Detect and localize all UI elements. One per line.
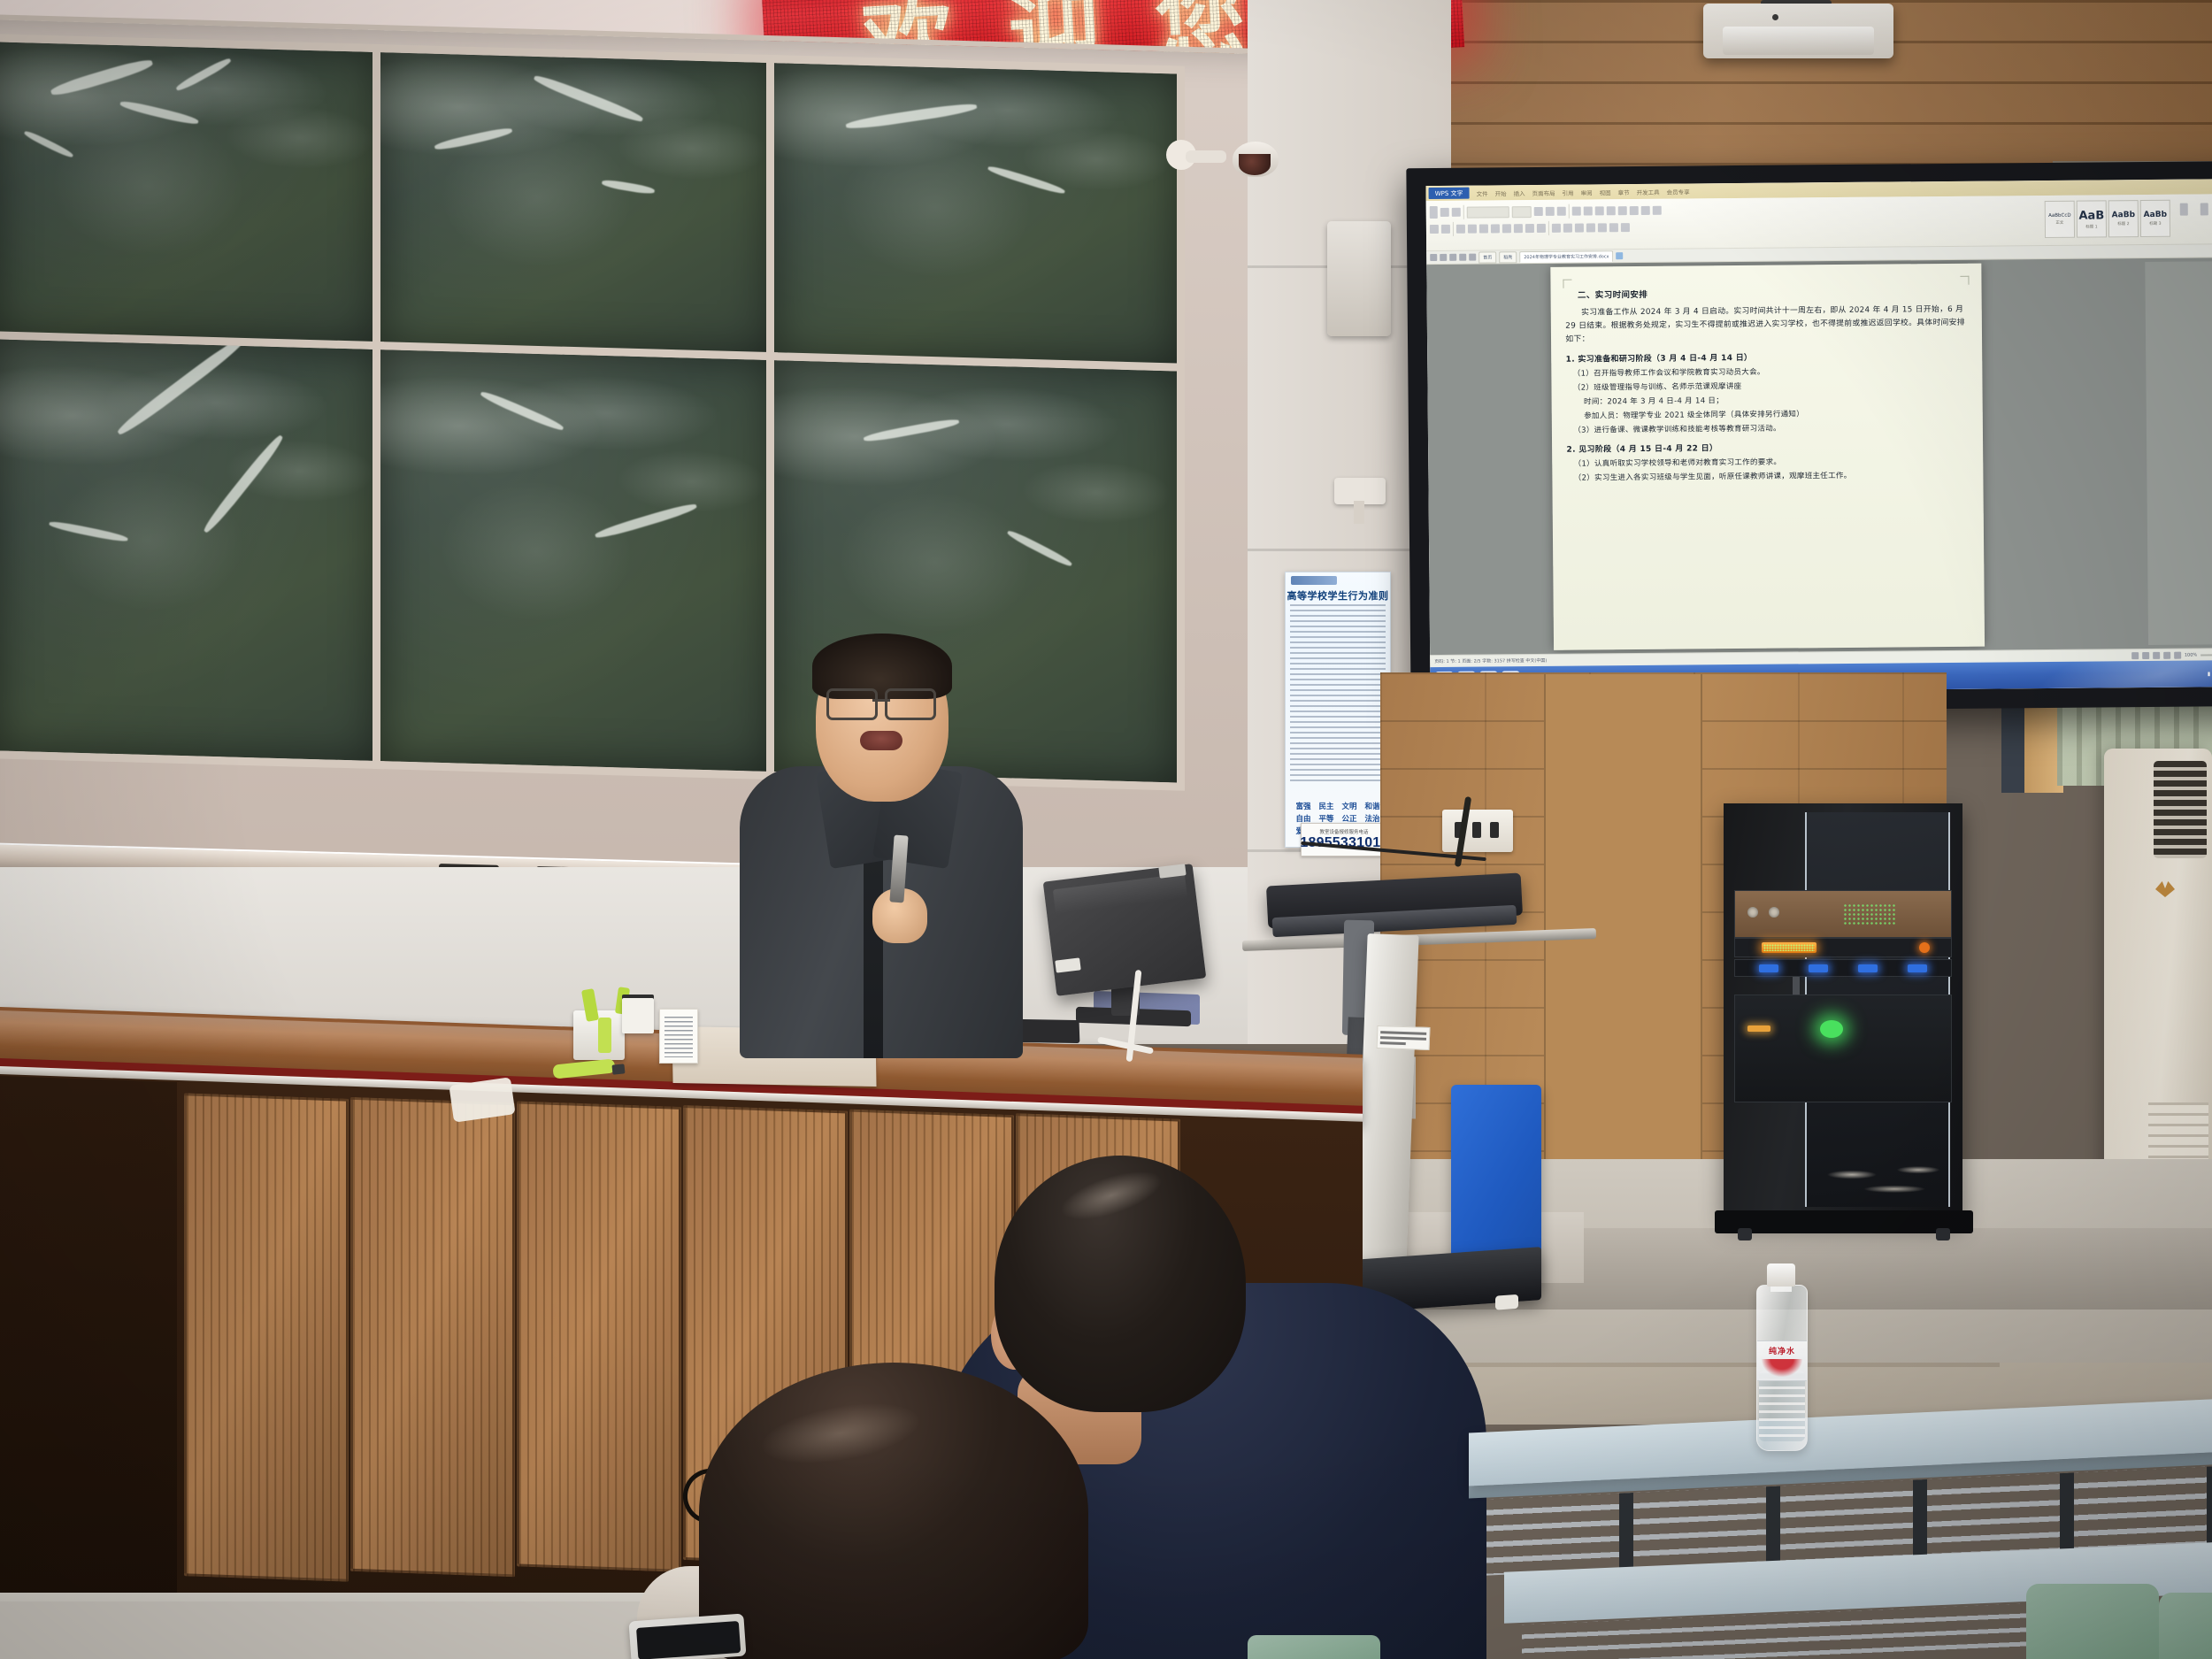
doc-subitem: （1）召开指导教师工作会议和学院教育实习动员大会。 [1573,365,1969,380]
menu-item-insert[interactable]: 插入 [1514,188,1525,197]
menu-item-home[interactable]: 开始 [1495,188,1507,197]
subscript-icon[interactable] [1514,224,1523,233]
student-seat[interactable] [2026,1584,2159,1659]
rack-base [1715,1210,1973,1233]
desk-cabinet-panel[interactable] [350,1097,515,1577]
tray-network-icon[interactable]: ▮ [2208,671,2210,677]
style-normal[interactable]: AaBbCcD 正文 [2045,201,2075,238]
lectern-foot [1495,1294,1518,1310]
desk-side-panel [0,1076,177,1613]
doc-paragraph: 实习准备工作从 2024 年 3 月 4 日启动。实习时间共计十一周左右，即从 … [1565,303,1968,347]
student-conduct-poster: 高等学校学生行为准则 富强 民主 文明 和谐 自由 平等 公正 法治 爱国 敬业… [1285,572,1391,848]
doc-item-title: 2. 见习阶段（4 月 15 日-4 月 22 日） [1566,440,1969,455]
wps-ribbon: AaBbCcD 正文 AaB 标题 1 AaBb 标题 2 AaBb [1426,194,2212,251]
print-icon[interactable] [1440,254,1447,261]
paragraph-icon[interactable] [1653,206,1662,215]
smartphone[interactable] [628,1614,746,1659]
camera-arm [1186,150,1226,163]
core-value: 文明 [1340,801,1359,811]
core-value: 民主 [1317,801,1336,811]
text-color-icon[interactable] [1525,224,1534,233]
power-button-icon[interactable] [1919,942,1930,953]
show-marks-icon[interactable] [1630,206,1639,215]
desktop-monitor [1043,864,1207,996]
doc-subitem: （3）进行备课、微课教学训练和技能考核等教育研习活动。 [1573,422,1969,437]
dome-camera-icon [1233,142,1279,177]
doc-subitem: （2）班级管理指导与训练、名师示范课观摩讲座 [1573,380,1969,395]
projection-screen: WPS 文字 文件 开始 插入 页面布局 引用 审阅 视图 章节 开发工具 会员… [1406,161,2212,714]
poster-title: 高等学校学生行为准则 [1286,588,1390,603]
service-phone-plate: 教室设备报修服务电话 18955331011 [1301,823,1387,856]
marker-tip [611,1064,625,1074]
outline-view-icon[interactable] [2142,651,2149,658]
system-tray: ▮ ◂) 14:02 2024/4/10 [2208,666,2212,680]
blackboard-panel [373,44,778,363]
service-phone-caption: 教室设备报修服务电话 [1319,828,1368,835]
distribute-icon[interactable] [1598,223,1607,232]
blackboard-eraser [622,998,654,1033]
bottle-label-swoosh [1762,1359,1802,1377]
italic-icon[interactable] [1468,225,1477,234]
highlight-icon[interactable] [1537,224,1546,233]
eye-care-icon[interactable] [2174,651,2181,658]
read-view-icon[interactable] [2163,651,2170,658]
university-logo [1291,576,1337,585]
bottle-label: 纯净水 [1757,1340,1807,1381]
replace-icon[interactable] [2200,203,2208,215]
preview-icon[interactable] [1449,254,1456,261]
status-left-text: 页码: 1 节: 1 页面: 2/5 字数: 3157 拼写检查 中文(中国) [1434,657,1547,664]
new-tab-icon[interactable] [1616,252,1623,259]
channel-led [1809,964,1828,972]
line-spacing-icon[interactable] [1641,206,1650,215]
increase-font-icon[interactable] [1534,207,1543,216]
doc-tab-active[interactable]: 2024年物理学专业教育实习工作安排.docx [1519,250,1613,263]
rack-cables [1812,1156,1945,1203]
classroom-photo: 欢迎您 [0,0,2212,1659]
menu-item-references[interactable]: 引用 [1563,188,1574,196]
document-page[interactable]: 二、实习时间安排 实习准备工作从 2024 年 3 月 4 日启动。实习时间共计… [1551,264,1985,650]
wood-door[interactable] [1544,674,1702,1240]
ac-butterfly-icon [2155,881,2175,897]
justify-icon[interactable] [1586,223,1595,232]
copy-icon[interactable] [1430,225,1439,234]
green-marker [598,1018,611,1053]
align-center-icon[interactable] [1563,224,1572,233]
projector-led-icon [1772,14,1778,20]
student-seat[interactable] [2159,1593,2212,1659]
wall-outlet[interactable] [1442,810,1513,852]
style-heading-2[interactable]: AaBb 标题 2 [2108,200,2139,237]
ac-vent-top [2154,761,2207,858]
sort-icon[interactable] [1618,206,1627,215]
menu-item-section[interactable]: 章节 [1618,188,1630,196]
numbered-list-icon[interactable] [1584,206,1593,215]
menu-item-member[interactable]: 会员专享 [1667,187,1690,196]
bottle-body: 纯净水 [1756,1285,1808,1451]
water-bottle[interactable]: 纯净水 [1756,1263,1806,1449]
canvas-right-area [2146,261,2212,645]
document-text: 二、实习时间安排 实习准备工作从 2024 年 3 月 4 日启动。实习时间共计… [1565,285,1970,485]
underline-icon[interactable] [1479,224,1488,233]
core-value: 富强 [1294,801,1313,811]
outdent-icon[interactable] [1595,206,1604,215]
save-icon[interactable] [1430,254,1437,261]
font-size-select[interactable] [1512,206,1532,218]
menu-item-file[interactable]: 文件 [1477,188,1488,197]
bottle-cap [1767,1263,1795,1286]
font-family-select[interactable] [1467,206,1509,218]
decrease-font-icon[interactable] [1546,207,1555,216]
ceiling-projector [1703,4,1893,58]
cut-icon[interactable] [1440,208,1449,217]
web-view-icon[interactable] [2153,651,2160,658]
menu-item-devtools[interactable]: 开发工具 [1637,187,1660,196]
menu-item-layout[interactable]: 页面布局 [1532,188,1555,196]
shading-icon[interactable] [1609,223,1618,232]
style-gallery[interactable]: AaBbCcD 正文 AaB 标题 1 AaBb 标题 2 AaBb [2045,200,2170,238]
style-heading-1[interactable]: AaB 标题 1 [2077,200,2107,237]
align-right-icon[interactable] [1575,224,1584,233]
blackboard-assembly [0,13,1311,954]
doc-item-title: 1. 实习准备和研习阶段（3 月 4 日-4 月 14 日） [1566,349,1969,365]
presenter-glasses [826,688,936,715]
borders-icon[interactable] [1621,223,1630,232]
channel-led [1759,964,1778,972]
controller-unit [1734,938,1952,957]
doc-tab-docer[interactable]: 稻壳 [1499,251,1517,263]
core-value: 和谐 [1363,801,1382,811]
doc-heading: 二、实习时间安排 [1578,285,1968,301]
wps-app-logo: WPS 文字 [1429,188,1470,199]
doc-subitem: 时间：2024 年 3 月 4 日-4 月 14 日； [1584,394,1969,409]
bottle-brand-text: 纯净水 [1757,1345,1807,1356]
blackboard-panel [0,34,384,352]
amplifier-unit [1734,890,1952,938]
projected-image: WPS 文字 文件 开始 插入 页面布局 引用 审阅 视图 章节 开发工具 会员… [1426,179,2212,694]
clear-format-icon[interactable] [1557,207,1566,216]
bottle-ribs [1759,1371,1805,1441]
rack-pc-unit [1734,995,1952,1102]
margin-corner-icon [1563,280,1572,288]
doc-tab-home[interactable]: 首页 [1479,251,1496,263]
card-text-lines [664,1017,693,1057]
student-seat[interactable] [1248,1635,1380,1659]
zoom-level: 100% [2185,652,2197,657]
av-equipment-rack[interactable] [1724,803,1962,1219]
poster-body-text [1290,604,1386,781]
undo-icon[interactable] [1459,254,1466,261]
wps-writer-window: WPS 文字 文件 开始 插入 页面布局 引用 审阅 视图 章节 开发工具 会员… [1426,179,2212,694]
blackboard-panel [0,331,384,769]
bullet-list-icon[interactable] [1572,207,1581,216]
margin-corner-icon [1961,276,1970,285]
doc-subitem: 参加人员：物理学专业 2021 级全体同学（具体安排另行通知） [1584,408,1969,423]
bold-icon[interactable] [1456,225,1465,234]
style-heading-3[interactable]: AaBb 标题 3 [2140,200,2170,237]
zoom-slider[interactable] [2200,653,2212,656]
sensor-bracket [1354,501,1364,524]
floor-left [0,1601,672,1659]
redo-icon[interactable] [1469,254,1476,261]
document-canvas[interactable]: 二、实习时间安排 实习准备工作从 2024 年 3 月 4 日启动。实习时间共计… [1426,257,2212,655]
rack-caster [1936,1228,1950,1240]
amp-indicator-grid [1843,903,1896,926]
superscript-icon[interactable] [1502,224,1511,233]
desk-cabinet-panel[interactable] [517,1101,681,1571]
desk-card-holder [659,1009,698,1064]
channel-led-row [1734,959,1952,977]
wall-speaker [1327,221,1391,336]
pc-power-led [1820,1020,1843,1038]
lectern-asset-sticker [1377,1025,1431,1050]
channel-led [1858,964,1878,972]
strikethrough-icon[interactable] [1491,224,1500,233]
clipboard-icon[interactable] [1430,206,1438,219]
find-icon[interactable] [2180,204,2188,216]
align-left-icon[interactable] [1552,224,1561,233]
format-painter-icon[interactable] [1452,208,1461,217]
channel-led [1908,964,1927,972]
doc-subitem: （1）认真听取实习学校领导和老师对教育实习工作的要求。 [1574,456,1970,471]
page-view-icon[interactable] [2131,652,2139,659]
blackboard-panel [766,55,1185,374]
controller-display [1762,942,1816,953]
doc-subitem: （2）实习生进入各实习班级与学生见面，听原任课教师讲课，观摩班主任工作。 [1574,470,1970,485]
amp-knobs[interactable] [1747,907,1779,918]
desk-cabinet-panel[interactable] [184,1093,349,1581]
presenter [731,634,1032,1058]
menu-item-review[interactable]: 审阅 [1581,188,1593,196]
pc-amber-led [1747,1025,1770,1032]
paste-icon[interactable] [1441,225,1450,234]
presenter-mouth [860,731,902,750]
blackboard-panel [373,342,778,780]
indent-icon[interactable] [1607,206,1616,215]
status-right-tools: 100% [2131,650,2212,658]
rack-caster [1738,1228,1752,1240]
menu-item-view[interactable]: 视图 [1600,188,1611,196]
